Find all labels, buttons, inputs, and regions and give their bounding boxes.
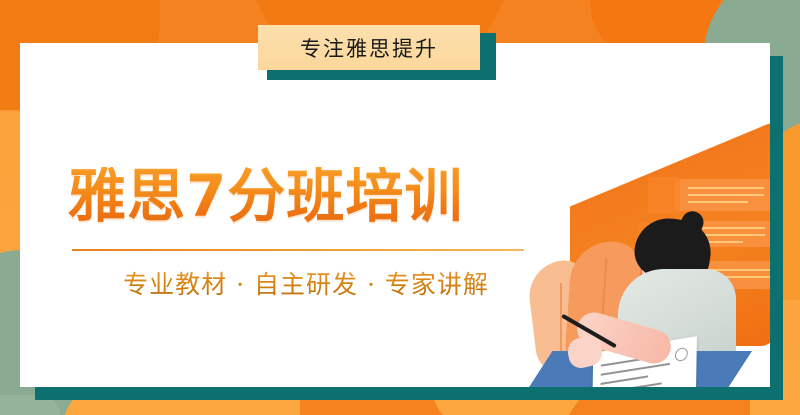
paper-answer-circle [675, 347, 688, 362]
title-divider [72, 249, 524, 251]
badge-tab-label: 专注雅思提升 [300, 33, 438, 63]
shelf-line [688, 187, 764, 189]
badge-tab: 专注雅思提升 [258, 25, 488, 73]
paper-line [601, 375, 648, 384]
poster-banner: 雅思7分班培训 专业教材 · 自主研发 · 专家讲解 [0, 0, 800, 415]
book-block-1 [648, 177, 680, 213]
student-writing-illustration: EXAM [510, 93, 770, 387]
shelf-line [688, 194, 764, 196]
content-card: 雅思7分班培训 专业教材 · 自主研发 · 专家讲解 [20, 43, 770, 387]
paper-line [601, 363, 670, 376]
shelf-line [688, 201, 748, 203]
subtitle-features: 专业教材 · 自主研发 · 专家讲解 [86, 265, 526, 301]
page-title: 雅思7分班培训 [68, 167, 463, 225]
badge-tab-face: 专注雅思提升 [258, 25, 480, 70]
